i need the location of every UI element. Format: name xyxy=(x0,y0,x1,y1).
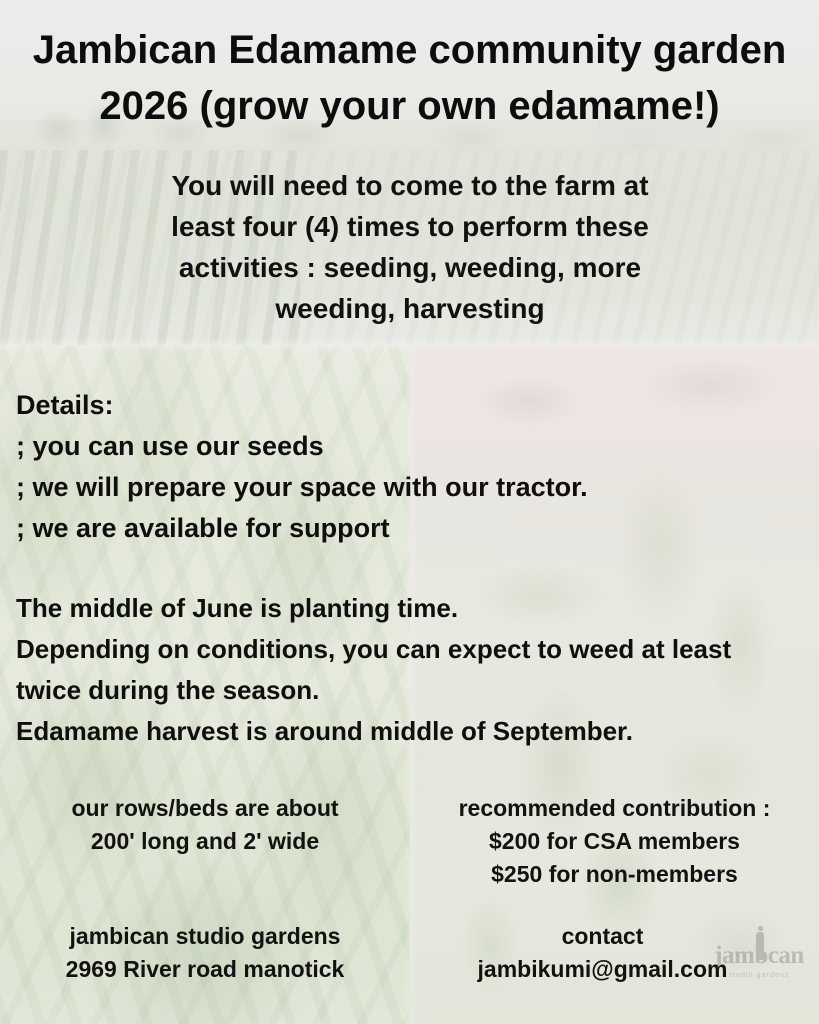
logo-wordmark: jambcan xyxy=(705,942,813,970)
subtitle-line-4: weeding, harvesting xyxy=(110,288,710,329)
address-line-1: jambican studio gardens xyxy=(0,920,410,953)
footer-row: jambican studio gardens 2969 River road … xyxy=(0,920,819,986)
poster-content: Jambican Edamame community garden 2026 (… xyxy=(0,0,819,1024)
details-heading: Details: xyxy=(16,385,806,426)
details-item-seeds: ; you can use our seeds xyxy=(16,426,806,467)
silhouette-head xyxy=(758,926,763,931)
subtitle-line-1: You will need to come to the farm at xyxy=(110,165,710,206)
address-line-2: 2969 River road manotick xyxy=(0,953,410,986)
season-line-weeding-2: twice during the season. xyxy=(16,670,811,711)
details-section: Details: ; you can use our seeds ; we wi… xyxy=(16,385,806,549)
silhouette-body xyxy=(756,932,764,960)
logo-tagline: studio gardens xyxy=(705,971,813,980)
beds-info: our rows/beds are about 200' long and 2'… xyxy=(0,792,410,891)
season-line-planting: The middle of June is planting time. xyxy=(16,588,811,629)
subtitle-line-2: least four (4) times to perform these xyxy=(110,206,710,247)
person-silhouette-icon xyxy=(756,926,764,960)
contribution-heading: recommended contribution : xyxy=(410,792,819,825)
beds-line-1: our rows/beds are about xyxy=(0,792,410,825)
title-line-2: 2026 (grow your own edamame!) xyxy=(0,78,819,134)
info-row: our rows/beds are about 200' long and 2'… xyxy=(0,792,819,891)
jambican-logo: jambcan studio gardens xyxy=(705,942,813,996)
title-line-1: Jambican Edamame community garden xyxy=(0,22,819,78)
logo-wordmark-right: can xyxy=(768,942,804,969)
contribution-csa: $200 for CSA members xyxy=(410,825,819,858)
poster: Jambican Edamame community garden 2026 (… xyxy=(0,0,819,1024)
details-item-tractor: ; we will prepare your space with our tr… xyxy=(16,467,806,508)
beds-line-2: 200' long and 2' wide xyxy=(0,825,410,858)
subtitle-line-3: activities : seeding, weeding, more xyxy=(110,247,710,288)
season-section: The middle of June is planting time. Dep… xyxy=(16,588,811,752)
poster-subtitle: You will need to come to the farm at lea… xyxy=(110,165,710,329)
address-info: jambican studio gardens 2969 River road … xyxy=(0,920,410,986)
season-line-weeding-1: Depending on conditions, you can expect … xyxy=(16,629,811,670)
details-item-support: ; we are available for support xyxy=(16,508,806,549)
contribution-non-members: $250 for non-members xyxy=(410,858,819,891)
poster-title: Jambican Edamame community garden 2026 (… xyxy=(0,22,819,134)
contribution-info: recommended contribution : $200 for CSA … xyxy=(410,792,819,891)
season-line-harvest: Edamame harvest is around middle of Sept… xyxy=(16,711,811,752)
